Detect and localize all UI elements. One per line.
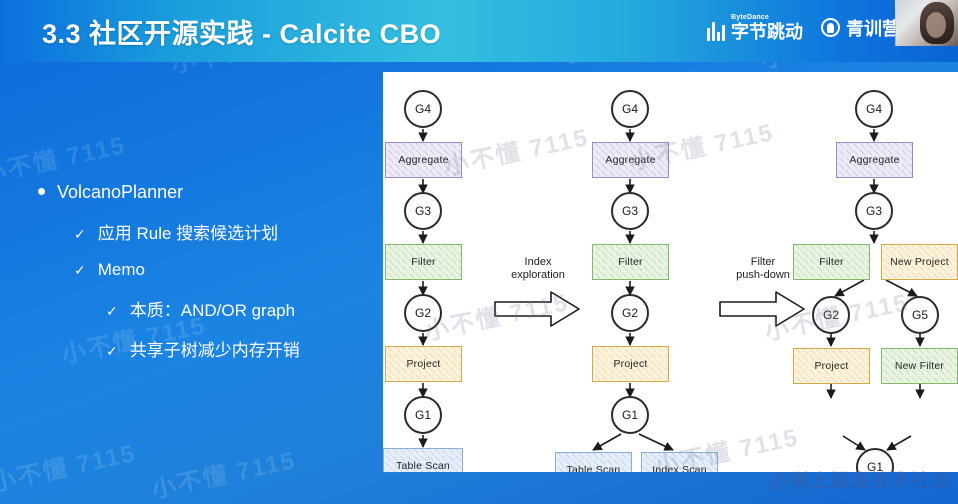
node-group-g1[interactable]: G1 bbox=[611, 396, 649, 434]
transition-label: Index exploration bbox=[511, 256, 565, 282]
node-table-scan[interactable]: Table Scan bbox=[555, 452, 632, 472]
qingxunying-logo: 青训营 bbox=[821, 15, 900, 41]
check-icon: ✓ bbox=[74, 262, 86, 279]
node-group-g4[interactable]: G4 bbox=[404, 90, 442, 128]
node-group-g4[interactable]: G4 bbox=[611, 90, 649, 128]
bullet-level2: ✓ Memo bbox=[74, 260, 368, 280]
bullet-level2-label: Memo bbox=[98, 260, 145, 280]
transition-arrow-filter-pushdown: Filter push-down bbox=[718, 290, 808, 328]
check-icon: ✓ bbox=[74, 226, 86, 243]
arrow-right-icon bbox=[493, 290, 583, 328]
node-filter[interactable]: Filter bbox=[592, 244, 669, 280]
bytedance-logo: ByteDance 字节跳动 bbox=[707, 14, 803, 41]
node-group-g2[interactable]: G2 bbox=[611, 294, 649, 332]
watermark-tile: 小不懂 7115 bbox=[0, 125, 129, 190]
node-group-g3[interactable]: G3 bbox=[404, 192, 442, 230]
bullet-level3: ✓ 本质：AND/OR graph bbox=[106, 296, 368, 321]
node-group-g3[interactable]: G3 bbox=[855, 192, 893, 230]
node-project[interactable]: Project bbox=[592, 346, 669, 382]
watermark-tile: 小不懂 7115 bbox=[441, 117, 592, 182]
bullet-level2: ✓ 应用 Rule 搜索候选计划 bbox=[74, 219, 368, 244]
node-index-scan[interactable]: Index Scan bbox=[641, 452, 718, 472]
bar-chart-icon bbox=[707, 21, 725, 41]
bullet-dot-icon bbox=[38, 188, 45, 195]
check-icon: ✓ bbox=[106, 303, 118, 320]
node-aggregate[interactable]: Aggregate bbox=[385, 142, 462, 178]
bullet-level3-label: 本质：AND/OR graph bbox=[130, 296, 295, 321]
node-project[interactable]: Project bbox=[793, 348, 870, 384]
bytedance-cn-label: 字节跳动 bbox=[731, 23, 803, 41]
node-group-g1[interactable]: G1 bbox=[856, 448, 894, 472]
bytedance-en-label: ByteDance bbox=[731, 14, 803, 21]
check-icon: ✓ bbox=[106, 343, 118, 360]
header-logos: ByteDance 字节跳动 青训营 bbox=[707, 14, 900, 41]
arrow-right-icon bbox=[718, 290, 808, 328]
slide-header: 3.3 社区开源实践 - Calcite CBO ByteDance 字节跳动 … bbox=[0, 0, 958, 62]
watermark-tile: 小不懂 7115 bbox=[0, 433, 139, 498]
node-group-g5[interactable]: G5 bbox=[901, 296, 939, 334]
node-aggregate[interactable]: Aggregate bbox=[836, 142, 913, 178]
node-new-filter[interactable]: New Filter bbox=[881, 348, 958, 384]
transition-label: Filter push-down bbox=[736, 256, 790, 282]
bullet-level2-label: 应用 Rule 搜索候选计划 bbox=[98, 219, 278, 244]
node-group-g2[interactable]: G2 bbox=[812, 296, 850, 334]
node-group-g1[interactable]: G1 bbox=[404, 396, 442, 434]
qingxunying-label: 青训营 bbox=[846, 15, 900, 41]
page-title: 3.3 社区开源实践 - Calcite CBO bbox=[42, 12, 441, 51]
watermark-tile: 小不懂 7115 bbox=[148, 440, 299, 504]
bullet-level1: VolcanoPlanner bbox=[38, 182, 368, 203]
node-group-g3[interactable]: G3 bbox=[611, 192, 649, 230]
presenter-face-highlight bbox=[926, 12, 946, 38]
node-table-scan[interactable]: Table Scan bbox=[383, 448, 463, 472]
diagram-connectors bbox=[383, 72, 958, 472]
node-filter[interactable]: Filter bbox=[385, 244, 462, 280]
node-group-g4[interactable]: G4 bbox=[855, 90, 893, 128]
node-project[interactable]: Project bbox=[385, 346, 462, 382]
webcam-overlay[interactable] bbox=[895, 0, 958, 46]
bullet-list: VolcanoPlanner ✓ 应用 Rule 搜索候选计划 ✓ Memo ✓… bbox=[38, 182, 368, 376]
slide-root: 小不懂 7115 小不懂 7115 小不懂 7115 小不懂 7115 小不懂 … bbox=[0, 0, 958, 504]
bullet-level1-label: VolcanoPlanner bbox=[57, 182, 183, 203]
transition-arrow-index-exploration: Index exploration bbox=[493, 290, 583, 328]
diagram-panel: G4 Aggregate G3 Filter G2 Project G1 Tab… bbox=[383, 72, 958, 472]
node-group-g2[interactable]: G2 bbox=[404, 294, 442, 332]
bullet-level3: ✓ 共享子树减少内存开销 bbox=[106, 336, 368, 361]
person-circle-icon bbox=[821, 18, 840, 37]
node-new-project[interactable]: New Project bbox=[881, 244, 958, 280]
bullet-level3-label: 共享子树减少内存开销 bbox=[130, 336, 300, 361]
node-filter[interactable]: Filter bbox=[793, 244, 870, 280]
node-aggregate[interactable]: Aggregate bbox=[592, 142, 669, 178]
